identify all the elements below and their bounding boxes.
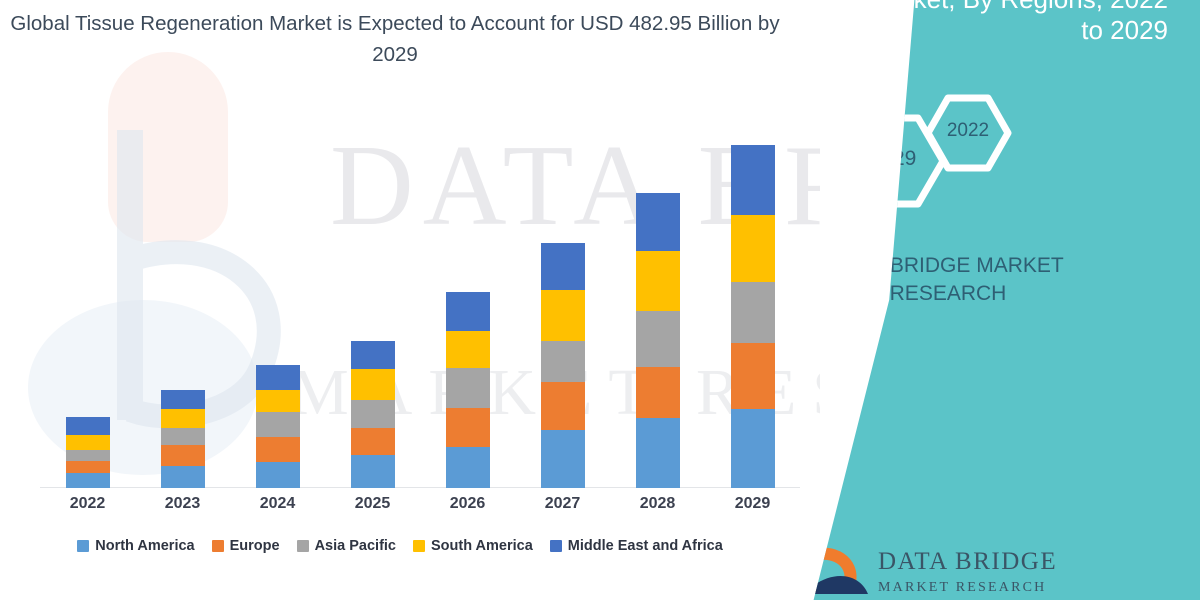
bar-segment-south-america[interactable] [541,290,585,340]
bar-segment-asia-pacific[interactable] [636,311,680,366]
bar-segment-europe[interactable] [541,382,585,430]
legend-label: Europe [230,538,280,554]
bar-segment-europe[interactable] [731,343,775,410]
legend-item-asia-pacific[interactable]: Asia Pacific [297,538,396,554]
side-panel: Market, By Regions, 2022 to 2029 2022 20… [780,0,1200,600]
logo-secondary-text: MARKET RESEARCH [878,580,1046,596]
bar-segment-south-america[interactable] [446,331,490,368]
x-axis-label-2022: 2022 [43,495,133,513]
bar-segment-south-america[interactable] [66,435,110,451]
bar-segment-middle-east-and-africa[interactable] [731,145,775,215]
bar-segment-south-america[interactable] [161,409,205,427]
legend-label: South America [431,538,533,554]
legend-item-north-america[interactable]: North America [77,538,194,554]
legend-item-south-america[interactable]: South America [413,538,533,554]
chart-plot-area [40,100,800,488]
legend-swatch-icon [297,540,309,552]
hexagon-large-label: 2029 [848,147,938,171]
bar-segment-europe[interactable] [66,461,110,474]
bar-segment-north-america[interactable] [541,430,585,488]
bar-segment-europe[interactable] [256,437,300,462]
bridge-logo-icon [800,536,870,598]
hexagon-badges: 2022 2029 [820,90,1050,230]
bar-segment-middle-east-and-africa[interactable] [66,417,110,434]
bar-segment-asia-pacific[interactable] [161,428,205,445]
bar-segment-asia-pacific[interactable] [731,282,775,342]
panel-title: Market, By Regions, 2022 to 2029 [848,0,1168,46]
legend-label: Middle East and Africa [568,538,723,554]
x-axis-label-2027: 2027 [518,495,608,513]
bar-segment-middle-east-and-africa[interactable] [161,390,205,409]
x-axis-labels: 20222023202420252026202720282029 [40,495,800,521]
bar-2025[interactable] [351,341,395,488]
bar-segment-north-america[interactable] [256,462,300,488]
bar-segment-south-america[interactable] [351,369,395,400]
bar-segment-north-america[interactable] [161,466,205,488]
x-axis-label-2024: 2024 [233,495,323,513]
bar-2022[interactable] [66,417,110,488]
x-axis-label-2028: 2028 [613,495,703,513]
legend-swatch-icon [77,540,89,552]
bar-segment-middle-east-and-africa[interactable] [256,365,300,390]
legend-label: North America [95,538,194,554]
bar-2027[interactable] [541,243,585,488]
legend-swatch-icon [413,540,425,552]
bar-2026[interactable] [446,292,490,488]
bar-segment-asia-pacific[interactable] [446,368,490,408]
x-axis-label-2025: 2025 [328,495,418,513]
bar-segment-south-america[interactable] [636,251,680,311]
bar-2029[interactable] [731,145,775,488]
bar-segment-asia-pacific[interactable] [256,412,300,436]
bar-segment-asia-pacific[interactable] [351,400,395,428]
bar-segment-south-america[interactable] [731,215,775,283]
legend-swatch-icon [212,540,224,552]
bar-segment-middle-east-and-africa[interactable] [446,292,490,331]
x-axis-line [40,487,800,488]
bar-segment-europe[interactable] [161,445,205,465]
brand-name: DATA BRIDGE MARKET RESEARCH [798,252,1098,308]
legend-swatch-icon [550,540,562,552]
bar-segment-north-america[interactable] [446,447,490,488]
company-logo: DATA BRIDGE MARKET RESEARCH [800,536,1100,600]
bar-segment-north-america[interactable] [66,473,110,488]
infographic-root: DATA BRIDGE MARKET RESEARCH Global Tissu… [0,0,1200,600]
x-axis-label-2026: 2026 [423,495,513,513]
bar-segment-asia-pacific[interactable] [541,341,585,383]
bar-segment-north-america[interactable] [636,418,680,488]
x-axis-label-2023: 2023 [138,495,228,513]
bar-segment-asia-pacific[interactable] [66,450,110,461]
bar-segment-europe[interactable] [351,428,395,455]
legend-item-europe[interactable]: Europe [212,538,280,554]
bar-2023[interactable] [161,390,205,488]
logo-primary-text: DATA BRIDGE [878,548,1057,576]
bar-segment-middle-east-and-africa[interactable] [541,243,585,291]
page-title: Global Tissue Regeneration Market is Exp… [0,8,790,70]
bar-segment-north-america[interactable] [351,455,395,488]
bar-segment-middle-east-and-africa[interactable] [351,341,395,369]
hexagon-small-label: 2022 [928,120,1008,142]
bar-segment-south-america[interactable] [256,390,300,412]
bar-segment-middle-east-and-africa[interactable] [636,193,680,251]
legend-item-middle-east-and-africa[interactable]: Middle East and Africa [550,538,723,554]
chart-legend: North AmericaEuropeAsia PacificSouth Ame… [0,538,800,554]
bar-2024[interactable] [256,365,300,488]
bar-segment-north-america[interactable] [731,409,775,488]
legend-label: Asia Pacific [315,538,396,554]
x-axis-label-2029: 2029 [708,495,798,513]
bar-2028[interactable] [636,193,680,488]
bar-segment-europe[interactable] [446,408,490,448]
bar-segment-europe[interactable] [636,367,680,418]
